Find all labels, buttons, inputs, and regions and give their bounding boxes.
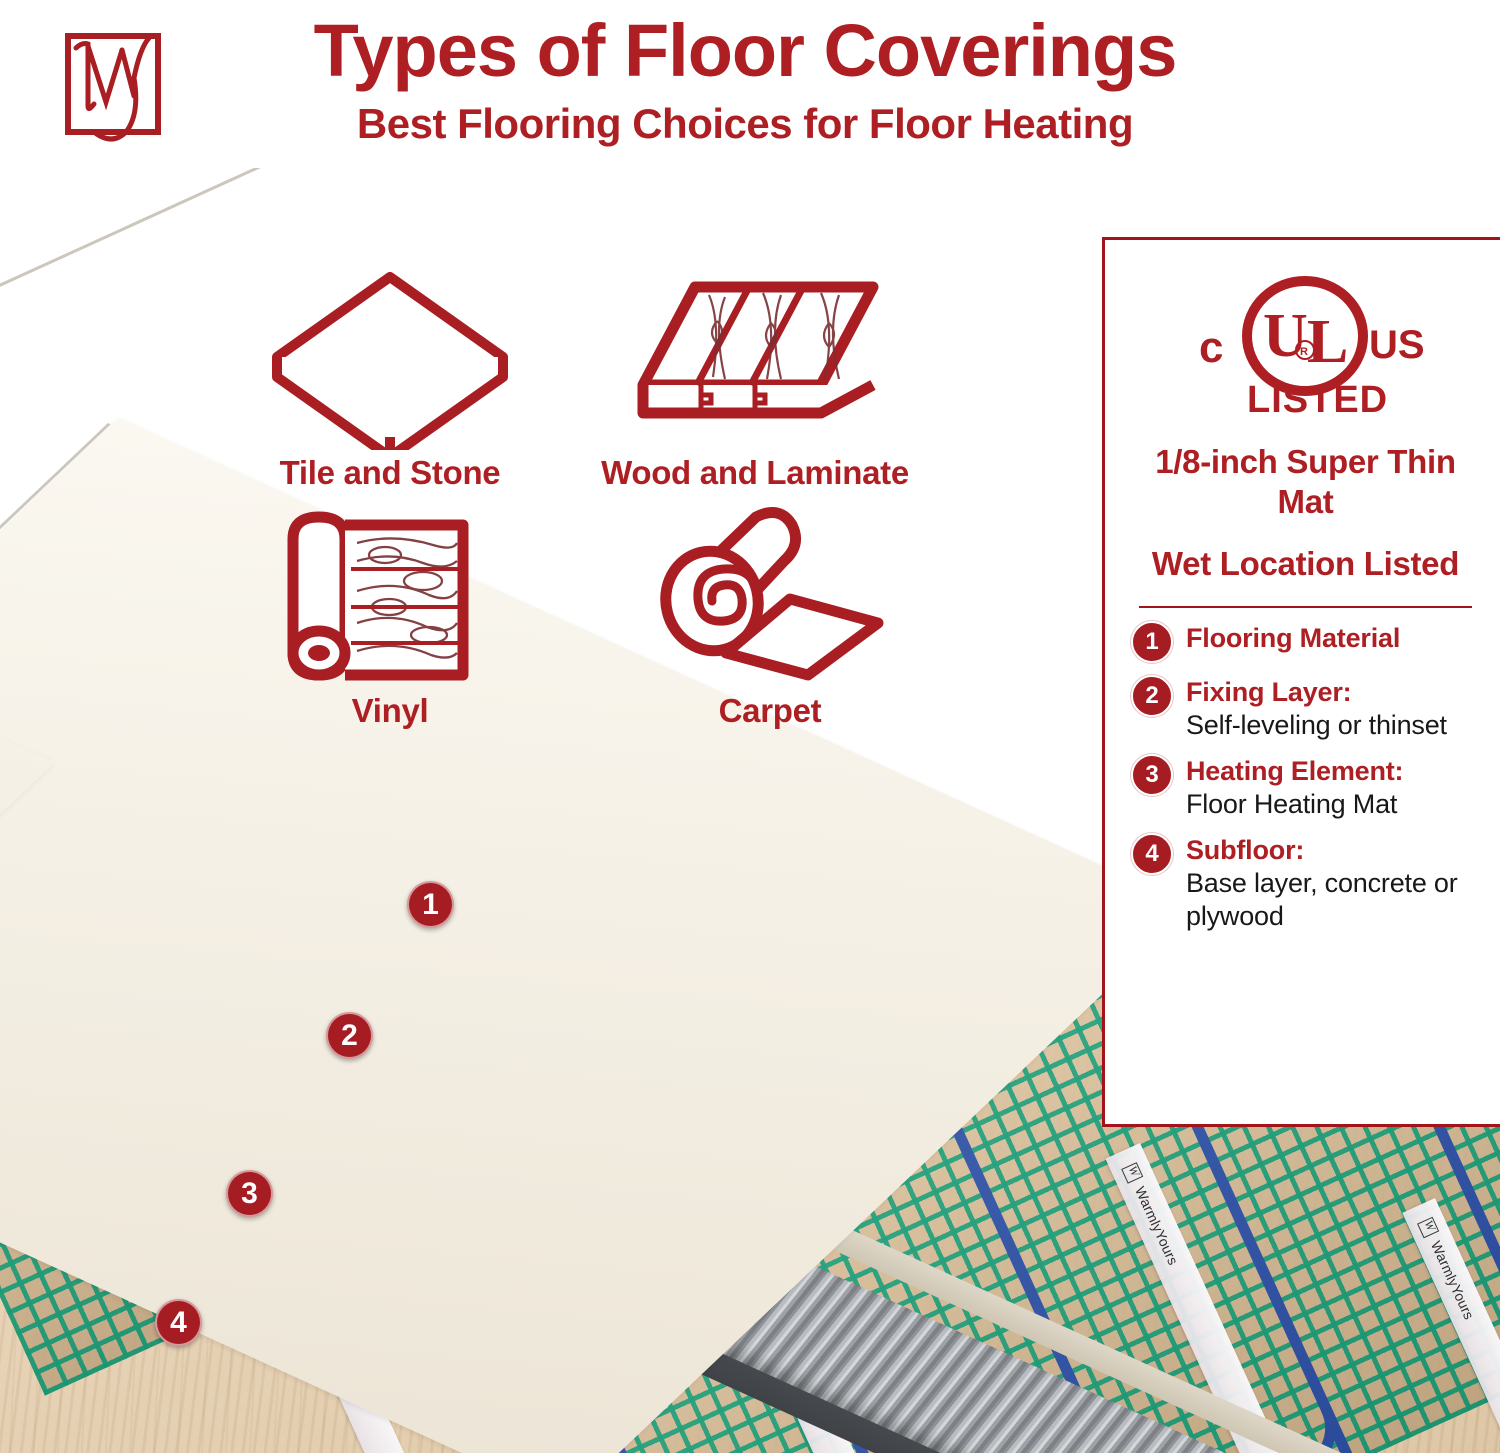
ul-listed-icon: c U L R US LISTED	[1131, 270, 1480, 420]
carpet-roll-icon	[610, 503, 930, 688]
tile-and-stone-icon	[220, 265, 560, 450]
warmlyyours-logo-icon	[48, 20, 178, 148]
covering-label: Wood and Laminate	[550, 454, 960, 492]
legend-item-4: 4 Subfloor: Base layer, concrete or plyw…	[1131, 832, 1480, 933]
tile-grout-line	[0, 168, 66, 419]
callout-number: 3	[241, 1177, 258, 1211]
covering-tile-and-stone[interactable]: Tile and Stone	[220, 265, 560, 492]
infographic-root: WarmlyYours WarmlyYours WarmlyYours Warm…	[0, 0, 1500, 1453]
callout-number: 4	[170, 1306, 187, 1340]
legend-title: Subfloor:	[1186, 834, 1480, 867]
legend-item-1: 1 Flooring Material	[1131, 620, 1480, 663]
wy-logo-icon	[1418, 1216, 1440, 1238]
legend-title: Fixing Layer:	[1186, 676, 1447, 709]
page-title: Types of Floor Coverings	[200, 8, 1290, 94]
legend-title: Flooring Material	[1186, 622, 1400, 655]
svg-text:U: U	[1263, 302, 1308, 370]
covering-wood-and-laminate[interactable]: Wood and Laminate	[550, 265, 960, 492]
floor-covering-icon-grid: Tile and Stone	[220, 265, 960, 765]
wy-logo-icon	[1122, 1162, 1144, 1184]
scene-callout-3: 3	[226, 1170, 273, 1217]
svg-text:US: US	[1369, 323, 1425, 367]
wood-and-laminate-icon	[550, 265, 960, 450]
legend-number-badge: 2	[1131, 675, 1173, 717]
legend-desc: Floor Heating Mat	[1186, 788, 1403, 821]
svg-text:LISTED: LISTED	[1247, 379, 1388, 420]
layer-legend-list: 1 Flooring Material 2 Fixing Layer: Self…	[1131, 620, 1480, 933]
covering-label: Carpet	[610, 692, 930, 730]
callout-number: 1	[422, 888, 439, 922]
legend-title: Heating Element:	[1186, 755, 1403, 788]
legend-item-3: 3 Heating Element: Floor Heating Mat	[1131, 753, 1480, 821]
svg-text:R: R	[1300, 346, 1308, 358]
panel-heading-wet-location: Wet Location Listed	[1131, 544, 1480, 584]
covering-label: Vinyl	[230, 692, 550, 730]
scene-callout-2: 2	[326, 1012, 373, 1059]
page-subtitle: Best Flooring Choices for Floor Heating	[200, 98, 1290, 150]
header: Types of Floor Coverings Best Flooring C…	[0, 0, 1500, 190]
legend-number-badge: 1	[1131, 621, 1173, 663]
scene-callout-1: 1	[407, 881, 454, 928]
svg-text:L: L	[1307, 308, 1348, 376]
panel-heading-product: 1/8-inch Super Thin Mat	[1131, 442, 1480, 522]
product-info-panel: c U L R US LISTED 1/8-inch Super Thin Ma…	[1102, 237, 1500, 1127]
legend-number-badge: 4	[1131, 833, 1173, 875]
vinyl-roll-icon	[230, 503, 550, 688]
scene-callout-4: 4	[155, 1299, 202, 1346]
legend-desc: Base layer, concrete or plywood	[1186, 867, 1480, 933]
legend-desc: Self-leveling or thinset	[1186, 709, 1447, 742]
panel-divider	[1139, 606, 1472, 608]
svg-text:c: c	[1199, 323, 1223, 372]
covering-carpet[interactable]: Carpet	[610, 503, 930, 730]
callout-number: 2	[341, 1019, 358, 1053]
legend-number-badge: 3	[1131, 754, 1173, 796]
title-block: Types of Floor Coverings Best Flooring C…	[200, 8, 1290, 150]
covering-vinyl[interactable]: Vinyl	[230, 503, 550, 730]
covering-label: Tile and Stone	[220, 454, 560, 492]
legend-item-2: 2 Fixing Layer: Self-leveling or thinset	[1131, 674, 1480, 742]
